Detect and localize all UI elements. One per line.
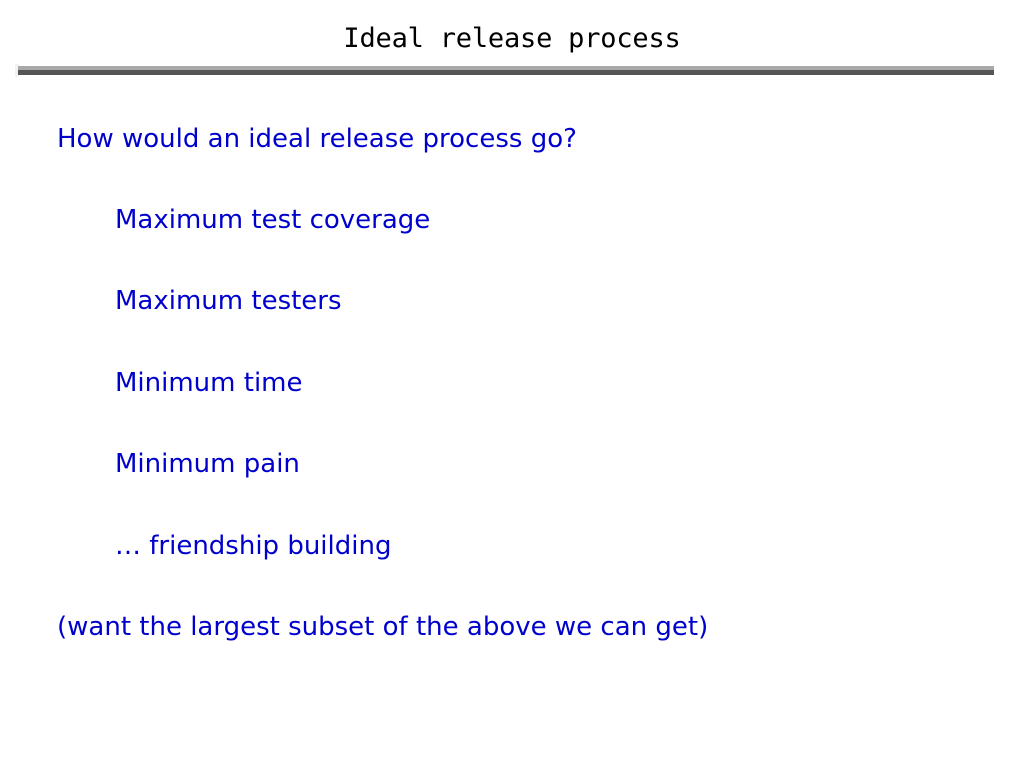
slide: Ideal release process How would an ideal… [0, 0, 1024, 768]
slide-body: How would an ideal release process go? M… [0, 108, 1024, 668]
bullet-maximum-test-coverage: Maximum test coverage [115, 207, 430, 233]
bullet-friendship-building: … friendship building [115, 533, 391, 559]
bullet-maximum-testers: Maximum testers [115, 288, 342, 314]
slide-title: Ideal release process [0, 24, 1024, 54]
bullet-minimum-time: Minimum time [115, 370, 303, 396]
title-divider-rule [18, 66, 994, 75]
bullet-minimum-pain: Minimum pain [115, 451, 300, 477]
bullet-question: How would an ideal release process go? [57, 126, 577, 152]
bullet-closing-note: (want the largest subset of the above we… [57, 614, 708, 640]
rule-shadow [18, 70, 994, 75]
